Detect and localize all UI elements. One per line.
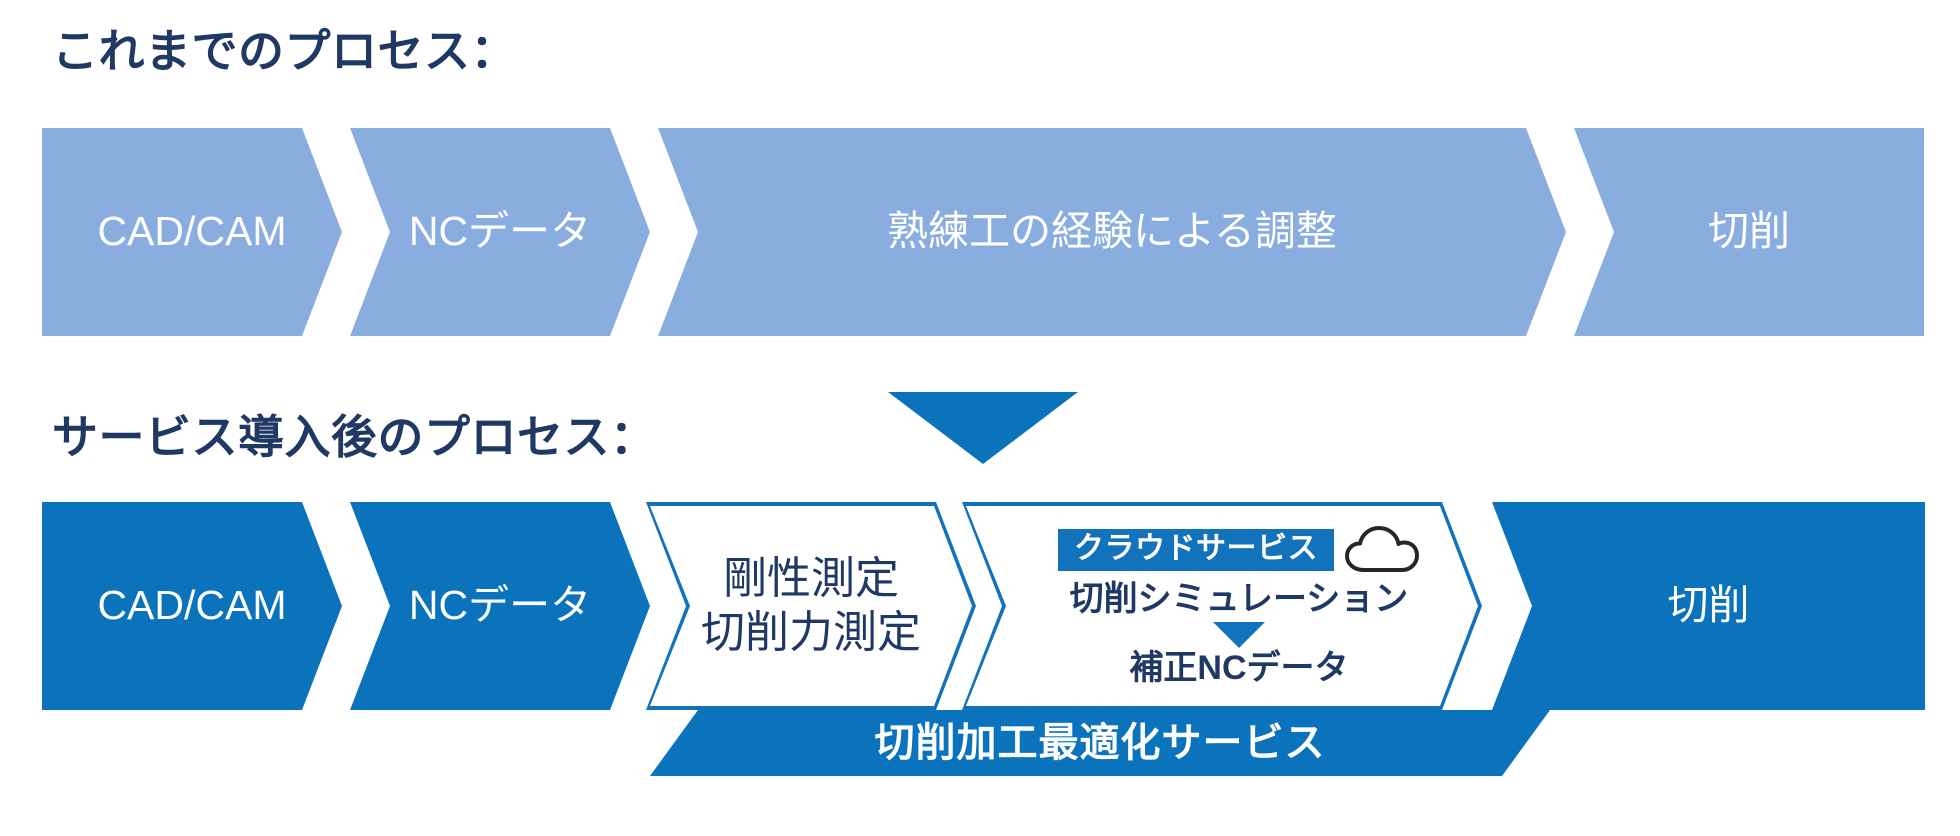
before-step-label: NCデータ	[409, 208, 591, 256]
service-banner-label: 切削加工最適化サービス	[875, 723, 1326, 763]
before-step-label: CAD/CAM	[97, 208, 286, 256]
cloud-icon	[1344, 525, 1420, 575]
measurement-content: 剛性測定 切削力測定	[646, 552, 976, 659]
after-process-row: CAD/CAM NCデータ 剛性測定 切削力測定 クラウドサービス	[42, 502, 1925, 710]
after-step-label: NCデータ	[409, 582, 591, 630]
cloud-service-badge: クラウドサービス	[1058, 529, 1334, 571]
slide-canvas: これまでのプロセス： CAD/CAM NCデータ 熟練工の経験による調整 切削 …	[0, 0, 1960, 836]
cloud-badge-row: クラウドサービス	[1058, 525, 1420, 575]
down-triangle-icon	[1213, 622, 1265, 648]
after-step-cloud-service[interactable]: クラウドサービス 切削シミュレーション 補正NCデータ	[962, 502, 1482, 710]
before-step-nc-data[interactable]: NCデータ	[350, 128, 650, 336]
after-step-label: 剛性測定 切削力測定	[701, 552, 921, 659]
corrected-nc-data-label: 補正NCデータ	[1129, 650, 1348, 687]
cloud-service-content: クラウドサービス 切削シミュレーション 補正NCデータ	[962, 525, 1482, 688]
after-step-measurement[interactable]: 剛性測定 切削力測定	[646, 502, 976, 710]
before-step-label: 熟練工の経験による調整	[887, 208, 1337, 256]
after-step-nc-data[interactable]: NCデータ	[350, 502, 650, 710]
before-step-cad-cam[interactable]: CAD/CAM	[42, 128, 342, 336]
before-step-manual-adjust[interactable]: 熟練工の経験による調整	[658, 128, 1566, 336]
after-step-cad-cam[interactable]: CAD/CAM	[42, 502, 342, 710]
after-process-title: サービス導入後のプロセス：	[52, 414, 657, 460]
down-triangle-icon	[888, 392, 1078, 464]
cutting-simulation-label: 切削シミュレーション	[1070, 581, 1409, 618]
before-process-title: これまでのプロセス：	[52, 28, 517, 74]
before-process-row: CAD/CAM NCデータ 熟練工の経験による調整 切削	[42, 128, 1924, 336]
after-step-label: 切削	[1668, 582, 1750, 630]
before-step-cutting[interactable]: 切削	[1574, 128, 1924, 336]
after-step-label: CAD/CAM	[97, 582, 286, 630]
service-banner[interactable]: 切削加工最適化サービス	[650, 710, 1550, 776]
after-step-cutting[interactable]: 切削	[1492, 502, 1925, 710]
cloud-block: クラウドサービス 切削シミュレーション 補正NCデータ	[962, 525, 1482, 688]
before-step-label: 切削	[1708, 208, 1790, 256]
